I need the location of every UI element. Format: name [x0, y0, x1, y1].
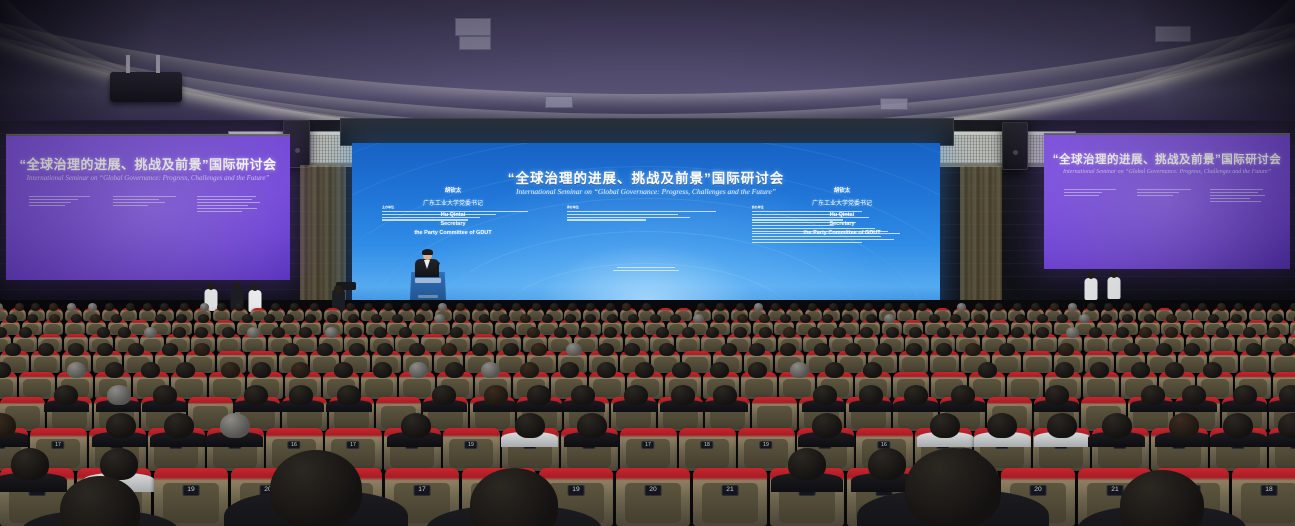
audience-member-head [884, 303, 893, 311]
audience-member-head [909, 327, 922, 338]
auditorium-seat[interactable] [752, 397, 797, 431]
ceiling-vent [459, 36, 491, 50]
audience-member-head [334, 362, 353, 378]
nameplate-left-cn-name: 胡钦太 [396, 186, 510, 194]
audience-member-head [813, 385, 837, 405]
audience-member-head [289, 385, 313, 405]
audience-member-head [1180, 303, 1189, 311]
seat-back-pad [475, 324, 490, 334]
seat-number-plate: 21 [722, 485, 739, 495]
audience-member-head [373, 362, 392, 378]
audience-member-head [1156, 343, 1172, 356]
seat-back-pad [757, 406, 791, 429]
audience-member-head [825, 362, 844, 378]
audience-member-head [812, 413, 842, 438]
seat-back-pad [1181, 357, 1203, 372]
audience-member-head [1031, 303, 1040, 311]
audience-member-head [1101, 314, 1112, 323]
nameplate-left: 胡钦太 广东工业大学党委书记 Hu Qintai Secretary the P… [396, 186, 510, 239]
audience-member-head [221, 362, 240, 378]
audience-member-head [247, 327, 260, 338]
seat-back-pad [745, 379, 772, 397]
seat-back-pad [23, 379, 50, 397]
audience-member-head [713, 385, 737, 405]
wall-curtain-right [960, 166, 1002, 304]
seat-back-pad [995, 357, 1017, 372]
audience-member-head [863, 362, 882, 378]
ceiling-vent [545, 96, 573, 108]
audience-member-head [987, 413, 1017, 438]
audience-member-head [90, 314, 101, 323]
seat-back-pad [213, 379, 240, 397]
audience-member-head [1233, 385, 1257, 405]
seat-back-pad [1251, 311, 1264, 320]
seat-back-pad [1026, 357, 1048, 372]
audience-member-head [305, 314, 316, 323]
audience-member-head [176, 362, 195, 378]
audience-member-head [1217, 303, 1226, 311]
audience-member-head [1047, 413, 1077, 438]
audience-member-head [1089, 327, 1102, 338]
audience-member-head [1182, 385, 1206, 405]
audience-member-head [1124, 343, 1140, 356]
audience-member-head [1066, 327, 1079, 338]
seat-number-plate: 20 [645, 485, 662, 495]
audience-member-head [481, 362, 500, 378]
audience-member-head [349, 327, 362, 338]
nameplate-right-cn-name: 胡钦太 [785, 186, 899, 194]
organizer-block [113, 196, 183, 214]
audience-member-head [118, 327, 131, 338]
audience-member-head [5, 343, 21, 356]
audience-member-head [965, 343, 981, 356]
audience-member-head [374, 327, 387, 338]
audience-member-head [829, 303, 838, 311]
audience-member-head [180, 303, 189, 311]
audience-member-head [106, 413, 136, 438]
audience-member-head [337, 385, 361, 405]
audience-member-head [310, 303, 319, 311]
audience-member-head [1141, 385, 1165, 405]
audience-member-head [1166, 314, 1177, 323]
audience-member-head [512, 303, 521, 311]
side-screen-left-title-en: International Seminar on “Global Governa… [6, 174, 290, 182]
audience-member-head [502, 327, 515, 338]
audience-member-head [235, 303, 244, 311]
audience-member-head [759, 314, 770, 323]
audience-member-head [672, 362, 691, 378]
audience-member-head [578, 327, 591, 338]
led-organizer-column: 承办单位 [567, 205, 725, 222]
audience-member-head [800, 314, 811, 323]
audience-member-head [607, 314, 618, 323]
side-screen-right: “全球治理的进展、挑战及前景”国际研讨会 International Semin… [1044, 133, 1290, 269]
seat-number-plate: 17 [641, 441, 654, 449]
audience-member-head [1036, 327, 1049, 338]
auditorium-seat[interactable]: 19 [443, 428, 500, 471]
audience-member-head [759, 327, 772, 338]
auditorium-seat[interactable]: 17 [620, 428, 677, 471]
nameplate-left-cn-role: 广东工业大学党委书记 [396, 198, 510, 207]
audience-member-head [1090, 362, 1109, 378]
audience-member-head [1122, 314, 1133, 323]
staff-body [1107, 277, 1120, 299]
organizer-block [1064, 189, 1125, 204]
audience-member-head [868, 448, 906, 480]
organizer-block [29, 196, 99, 214]
audience-member-head [749, 343, 765, 356]
seat-back-pad [67, 324, 82, 334]
audience-member-head [814, 343, 830, 356]
audience-member-head [864, 303, 873, 311]
led-title-cn: “全球治理的进展、挑战及前景”国际研讨会 [352, 167, 940, 187]
seat-back-pad [973, 379, 1000, 397]
audience-member-head [1037, 314, 1048, 323]
speaker-hair [422, 249, 433, 255]
seat-back-pad [1138, 339, 1156, 351]
audience-member-head [780, 343, 796, 356]
organizer-block [197, 196, 267, 214]
audience-member-head [143, 303, 152, 311]
audience-member-head [432, 385, 456, 405]
audience-member-head [220, 413, 250, 438]
audience-member-head [162, 343, 178, 356]
seat-back-pad [424, 339, 442, 351]
audience-member-head [670, 314, 681, 323]
audience-member-head [252, 362, 271, 378]
audience-member-head [706, 327, 719, 338]
auditorium-seat[interactable]: 18 [679, 428, 736, 471]
audience-member-head [1131, 362, 1150, 378]
podium-emblem [418, 295, 438, 298]
audience-member-head [484, 385, 508, 405]
audience-member-head [377, 343, 393, 356]
seat-back-pad [1274, 357, 1295, 372]
led-organizer-label: 承办单位 [567, 205, 725, 209]
audience-member-head [974, 314, 985, 323]
audience-member-head [860, 327, 873, 338]
ceiling-shadow-left [0, 0, 190, 132]
seat-back-pad [215, 311, 228, 320]
audience-member-head [88, 303, 97, 311]
audience-member-head [866, 314, 877, 323]
audience-member-head [950, 314, 961, 323]
audience-member-head [1191, 327, 1204, 338]
audience-member-head [476, 303, 485, 311]
seat-number-plate: 20 [1030, 485, 1047, 495]
audience-member-head [1278, 413, 1295, 438]
audience-member-head [299, 327, 312, 338]
auditorium-seat[interactable]: 19 [154, 468, 228, 526]
audience-member-head [930, 413, 960, 438]
seat-back-pad [365, 379, 392, 397]
audience-member-head [371, 314, 382, 323]
seat-back-pad [0, 311, 6, 320]
audience-member-head [1243, 327, 1256, 338]
audience-member-head [1254, 303, 1263, 311]
audience-member-head [128, 343, 144, 356]
seat-back-pad [313, 357, 335, 372]
audience-member-head [283, 314, 294, 323]
audience-member-head [1216, 327, 1229, 338]
seat-back-pad [902, 357, 924, 372]
audience-member-head [1143, 303, 1152, 311]
seat-number-plate: 17 [414, 485, 431, 495]
wall-speaker-right [1002, 122, 1028, 170]
side-screen-right-title-cn: “全球治理的进展、挑战及前景”国际研讨会 [1044, 151, 1290, 167]
audience-member-head [808, 327, 821, 338]
audience-member-head [571, 385, 595, 405]
seat-back-pad [34, 357, 56, 372]
seat-back-pad [1011, 379, 1038, 397]
audience-member-head [264, 314, 275, 323]
operator-head [334, 285, 342, 293]
audience-member-head [271, 303, 280, 311]
standing-staff-member [1106, 271, 1121, 304]
audience-member-head [49, 314, 60, 323]
staff-head [1111, 271, 1117, 278]
audience-member-head [38, 343, 54, 356]
seat-back-pad [0, 379, 13, 397]
audience-member-head [1011, 327, 1024, 338]
audience-member-head [1102, 413, 1132, 438]
audience-member-head [472, 343, 488, 356]
auditorium-seat[interactable]: 21 [693, 468, 767, 526]
audience-member-head [1267, 327, 1280, 338]
audience-member-head [790, 362, 809, 378]
seat-back-pad [1036, 339, 1054, 351]
audience-member-head [1104, 303, 1113, 311]
seat-back-pad [122, 311, 135, 320]
audience-member-head [441, 343, 457, 356]
audience-member-head [531, 343, 547, 356]
seat-number-plate: 19 [568, 485, 585, 495]
audience-member-head [141, 362, 160, 378]
audience-member-head [975, 303, 984, 311]
nameplate-right: 胡钦太 广东工业大学党委书记 Hu Qintai Secretary the P… [785, 186, 899, 239]
audience-member-head [1203, 362, 1222, 378]
seat-back-pad [432, 324, 447, 334]
audience-member-head [173, 327, 186, 338]
audience-member-head [918, 303, 927, 311]
audience-member-head [346, 303, 355, 311]
audience-member-head [1198, 303, 1207, 311]
audience-member-head [515, 413, 545, 438]
audience-member-head [697, 303, 706, 311]
audience-member-head [845, 343, 861, 356]
seat-back-pad [1195, 311, 1208, 320]
audience-member-head [291, 362, 310, 378]
audience-member-head [409, 343, 425, 356]
side-screen-left-organizer-blocks [29, 196, 268, 214]
seat-back-pad [1228, 324, 1243, 334]
audience-member-head [503, 343, 519, 356]
audience-member-head [31, 303, 40, 311]
audience-member-head [994, 303, 1003, 311]
audience-member-head [1116, 327, 1129, 338]
audience-member-head [19, 327, 32, 338]
audience-member-head [900, 303, 909, 311]
staff-head [252, 284, 258, 291]
audience-member-head [597, 362, 616, 378]
audience-member-head [565, 314, 576, 323]
ceiling-shadow-right [1105, 0, 1295, 132]
audience-member-head [734, 327, 747, 338]
audience-member-head [126, 303, 135, 311]
audience-member-head [568, 303, 577, 311]
audience-member-head [1045, 385, 1069, 405]
seat-back-pad [45, 324, 60, 334]
side-screen-right-organizer-blocks [1064, 189, 1271, 204]
auditorium-seat[interactable]: 19 [738, 428, 795, 471]
audience-member-head [566, 343, 582, 356]
audience-member-head [963, 327, 976, 338]
seat-number-plate: 19 [183, 485, 200, 495]
audience-member-head [624, 385, 648, 405]
nameplate-left-en-role-2: the Party Committee of GDUT [396, 230, 510, 236]
seat-back-pad [220, 339, 238, 351]
seat-back-pad [679, 339, 697, 351]
audience-member-head [349, 343, 365, 356]
auditorium-scene: “全球治理的进展、挑战及前景”国际研讨会 International Semin… [0, 0, 1295, 526]
audience-member-head [1013, 303, 1022, 311]
audience-member-head [283, 343, 299, 356]
auditorium-seat[interactable]: 18 [1232, 468, 1295, 526]
audience-member-head [1123, 303, 1132, 311]
audience-member-head [656, 327, 669, 338]
audience-member-head [364, 303, 373, 311]
audience-member-head [710, 362, 729, 378]
auditorium-seat[interactable]: 20 [616, 468, 690, 526]
audience-member-head [650, 314, 661, 323]
side-screen-left-title-cn: “全球治理的进展、挑战及前景”国际研讨会 [6, 154, 290, 173]
audience-member-head [520, 362, 539, 378]
audience-member-head [1058, 343, 1074, 356]
audience-member-head [560, 362, 579, 378]
seat-number-plate: 17 [51, 441, 64, 449]
seat-back-pad [1214, 339, 1232, 351]
seat-back-pad [175, 379, 202, 397]
audience-member-head [520, 314, 531, 323]
audience-member-head [194, 343, 210, 356]
audience-member-head [606, 303, 615, 311]
staff-body [1084, 278, 1097, 300]
audience-member-head [438, 303, 447, 311]
seat-number-plate: 17 [346, 441, 359, 449]
audience-member-head [434, 314, 445, 323]
audience-member-head [1208, 314, 1219, 323]
audience-member-head [105, 303, 114, 311]
audience-member-head [399, 327, 412, 338]
audience-member-head [986, 327, 999, 338]
audience-member-head [1279, 343, 1295, 356]
audience-member-head [455, 314, 466, 323]
seat-number-plate: 19 [759, 441, 772, 449]
audience-member-head [1087, 303, 1096, 311]
audience-member-head [401, 413, 431, 438]
audience-member-head [598, 343, 614, 356]
seat-back-pad [704, 339, 722, 351]
audience-member-head [736, 303, 745, 311]
nameplate-left-en-role-1: Secretary [396, 221, 510, 227]
seat-number-plate: 18 [1261, 485, 1278, 495]
audience-member-head [682, 327, 695, 338]
seat-back-pad [1243, 357, 1265, 372]
audience-member-head [833, 327, 846, 338]
audience-seating-area: 1617181920161718192016171819201617181920… [0, 300, 1295, 526]
nameplate-right-en-name: Hu Qintai [785, 212, 899, 218]
audience-member-head [737, 314, 748, 323]
audience-member-head [1279, 385, 1295, 405]
audience-member-head [845, 303, 854, 311]
audience-member-head [780, 314, 791, 323]
audience-member-head [244, 385, 268, 405]
audience-member-head [1223, 413, 1253, 438]
auditorium-seat[interactable] [19, 372, 55, 399]
seat-back-pad [141, 311, 154, 320]
seat-back-pad [540, 324, 555, 334]
audience-member-head [384, 303, 393, 311]
audience-member-head [1184, 343, 1200, 356]
ceiling-projector [110, 72, 182, 102]
foreground-audience-head [905, 448, 1001, 526]
staff-head [208, 283, 214, 290]
foreground-audience-head [270, 450, 362, 526]
audience-member-head [317, 343, 333, 356]
seat-back-pad [245, 339, 263, 351]
audience-member-head [290, 303, 299, 311]
stage-speaker [414, 250, 440, 276]
seat-back-pad [252, 311, 265, 320]
seat-back-pad [899, 311, 912, 320]
audience-member-head [1068, 303, 1077, 311]
audience-member-head [49, 303, 58, 311]
audience-member-head [951, 385, 975, 405]
audience-member-head [771, 303, 780, 311]
audience-member-head [493, 303, 502, 311]
auditorium-seat[interactable] [1023, 351, 1052, 373]
audience-member-head [532, 303, 541, 311]
seat-back-pad [933, 357, 955, 372]
audience-member-head [1246, 343, 1262, 356]
auditorium-seat[interactable] [1007, 372, 1043, 399]
audience-member-head [1165, 362, 1184, 378]
audience-member-head [631, 327, 644, 338]
audience-member-head [721, 343, 737, 356]
audience-member-head [164, 413, 194, 438]
audience-member-head [635, 362, 654, 378]
audience-member-head [527, 327, 540, 338]
audience-member-head [1234, 303, 1243, 311]
audience-member-head [1055, 362, 1074, 378]
staff-head [234, 282, 240, 289]
seat-back-pad [783, 379, 810, 397]
audience-member-head [272, 327, 285, 338]
audience-member-head [808, 303, 817, 311]
audience-member-head [936, 343, 952, 356]
audience-member-head [97, 327, 110, 338]
seat-number-plate: 19 [464, 441, 477, 449]
seat-number-plate: 16 [287, 441, 300, 449]
audience-member-head [445, 362, 464, 378]
seat-back-pad [499, 357, 521, 372]
organizer-block [1137, 189, 1198, 204]
audience-member-head [876, 343, 892, 356]
audience-member-head [527, 385, 551, 405]
audience-member-head [659, 343, 675, 356]
audience-member-head [71, 314, 82, 323]
audience-member-head [937, 327, 950, 338]
